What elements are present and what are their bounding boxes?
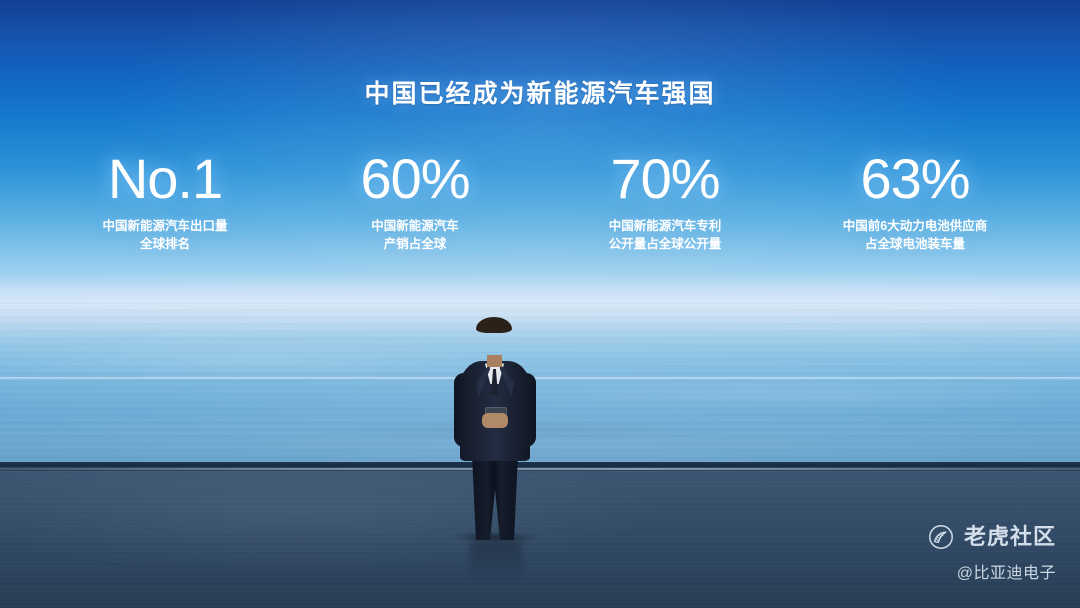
tiger-circle-icon [928,524,954,550]
stat-block-patent-share: 70% 中国新能源汽车专利 公开量占全球公开量 [540,150,790,253]
stat-caption-line-1: 中国新能源汽车 [290,217,540,235]
watermark-main: 老虎社区 [928,524,1056,550]
stat-caption-line-1: 中国新能源汽车专利 [540,217,790,235]
stat-caption-line-1: 中国新能源汽车出口量 [40,217,290,235]
speaker-hair [476,317,512,333]
stat-block-export-ranking: No.1 中国新能源汽车出口量 全球排名 [40,150,290,253]
watermark: 老虎社区 @比亚迪电子 [928,524,1056,583]
stat-block-battery-share: 63% 中国前6大动力电池供应商 占全球电池装车量 [790,150,1040,253]
speaker-right-arm [516,373,536,447]
slide-title: 中国已经成为新能源汽车强国 [0,74,1080,110]
presentation-screenshot: 中国已经成为新能源汽车强国 No.1 中国新能源汽车出口量 全球排名 60% 中… [0,0,1080,608]
stats-row: No.1 中国新能源汽车出口量 全球排名 60% 中国新能源汽车 产销占全球 7… [40,150,1040,253]
stat-caption-line-2: 全球排名 [40,235,290,253]
stat-caption: 中国前6大动力电池供应商 占全球电池装车量 [790,217,1040,253]
speaker-hands [482,413,508,428]
stat-block-production-share: 60% 中国新能源汽车 产销占全球 [290,150,540,253]
stat-value: 63% [790,150,1040,209]
stat-value: No.1 [40,150,290,209]
stat-caption: 中国新能源汽车专利 公开量占全球公开量 [540,217,790,253]
stat-value: 60% [290,150,540,209]
speaker-reflection [470,541,522,581]
speaker-figure [440,313,550,538]
watermark-handle: @比亚迪电子 [928,559,1056,583]
stat-caption-line-2: 占全球电池装车量 [790,235,1040,253]
stat-value: 70% [540,150,790,209]
watermark-name: 老虎社区 [964,526,1056,548]
stat-caption-line-2: 公开量占全球公开量 [540,235,790,253]
stat-caption: 中国新能源汽车 产销占全球 [290,217,540,253]
stat-caption-line-2: 产销占全球 [290,235,540,253]
stat-caption-line-1: 中国前6大动力电池供应商 [790,217,1040,235]
speaker-legs [470,455,520,540]
stat-caption: 中国新能源汽车出口量 全球排名 [40,217,290,253]
speaker-left-arm [454,373,474,447]
